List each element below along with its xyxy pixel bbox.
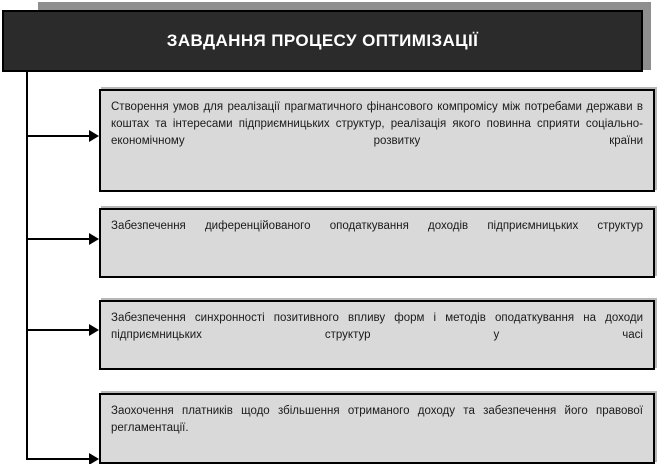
arrowhead-icon-1 xyxy=(89,130,99,142)
task-box-4: Заохочення платників щодо збільшення отр… xyxy=(99,393,655,464)
task-box-3-text: Забезпечення синхронності позитивного вп… xyxy=(101,302,653,367)
connector-line-1 xyxy=(27,135,91,137)
task-box-4-text: Заохочення платників щодо збільшення отр… xyxy=(101,395,653,460)
task-box-3: Забезпечення синхронності позитивного вп… xyxy=(99,300,655,370)
diagram-canvas: ЗАВДАННЯ ПРОЦЕСУ ОПТИМІЗАЦІЇ Створення у… xyxy=(0,0,663,464)
task-box-2: Забезпечення диференційованого оподаткув… xyxy=(99,208,655,278)
connector-vertical-spine xyxy=(26,72,28,460)
page-title: ЗАВДАННЯ ПРОЦЕСУ ОПТИМІЗАЦІЇ xyxy=(167,32,478,51)
connector-line-3 xyxy=(27,329,91,331)
task-box-1-text: Створення умов для реалізації прагматичн… xyxy=(101,91,653,173)
arrowhead-icon-4 xyxy=(89,453,99,464)
task-box-2-text: Забезпечення диференційованого оподаткув… xyxy=(101,210,653,258)
task-box-1: Створення умов для реалізації прагматичн… xyxy=(99,89,655,192)
arrowhead-icon-3 xyxy=(89,324,99,336)
connector-line-2 xyxy=(27,238,91,240)
connector-line-4 xyxy=(27,458,91,460)
header-banner: ЗАВДАННЯ ПРОЦЕСУ ОПТИМІЗАЦІЇ xyxy=(2,10,643,72)
arrowhead-icon-2 xyxy=(89,233,99,245)
